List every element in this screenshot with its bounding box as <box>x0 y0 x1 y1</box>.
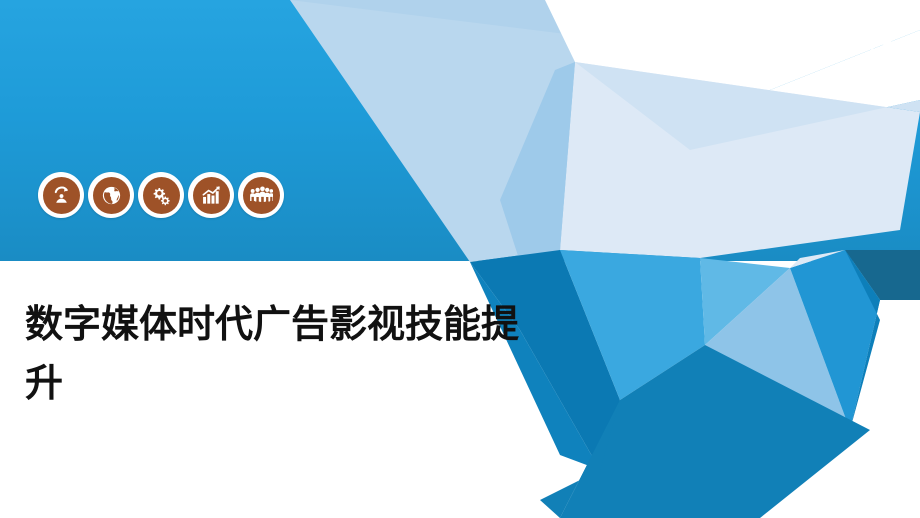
gears-icon <box>143 177 180 214</box>
icon-badge-row <box>38 172 284 218</box>
page-title: 数字媒体时代广告影视技能提升 <box>25 296 545 414</box>
icon-badge-bar-chart-growth[interactable] <box>188 172 234 218</box>
recycle-person-icon <box>43 177 80 214</box>
slide-canvas: 数智创新 变革未来 <box>0 0 920 518</box>
team-people-icon <box>243 177 280 214</box>
polygon-artwork <box>0 0 920 518</box>
icon-badge-recycle-person[interactable] <box>38 172 84 218</box>
icon-badge-gears[interactable] <box>138 172 184 218</box>
globe-icon <box>93 177 130 214</box>
icon-badge-team-people[interactable] <box>238 172 284 218</box>
icon-badge-globe[interactable] <box>88 172 134 218</box>
slide-tagline: 数智创新 变革未来 <box>715 27 898 57</box>
bar-chart-growth-icon <box>193 177 230 214</box>
